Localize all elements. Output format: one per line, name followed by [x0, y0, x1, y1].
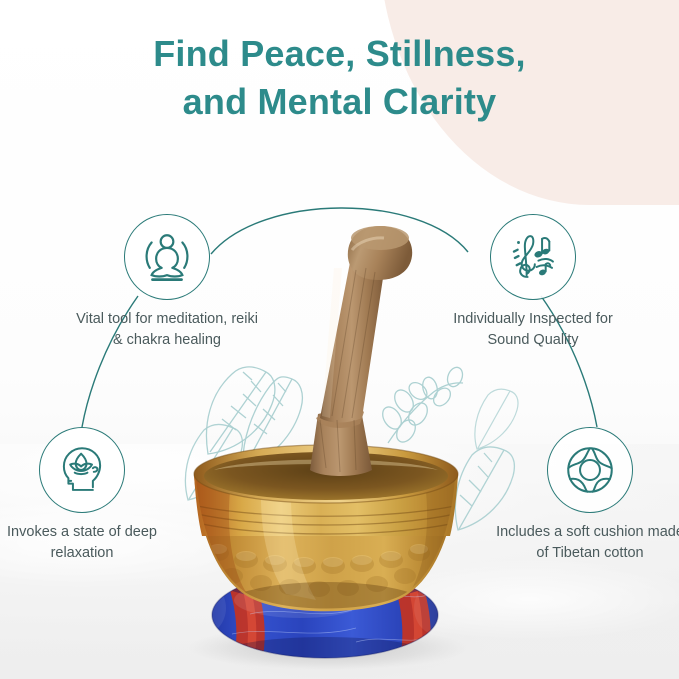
feature-cushion-label: Includes a soft cushion made of Tibetan … — [495, 522, 679, 563]
feature-meditation[interactable]: Vital tool for meditation, reiki & chakr… — [72, 214, 262, 350]
page-title-line-1: Find Peace, Stillness, — [0, 30, 679, 78]
feature-sound-quality[interactable]: Individually Inspected for Sound Quality — [438, 214, 628, 350]
feature-relaxation[interactable]: Invokes a state of deep relaxation — [0, 427, 177, 563]
head-with-lotus-icon — [39, 427, 125, 513]
page-title: Find Peace, Stillness, and Mental Clarit… — [0, 30, 679, 125]
page-title-line-2: and Mental Clarity — [0, 78, 679, 126]
feature-sound-quality-label: Individually Inspected for Sound Quality — [438, 309, 628, 350]
feature-relaxation-label: Invokes a state of deep relaxation — [0, 522, 177, 563]
music-notes-treble-clef-icon — [490, 214, 576, 300]
feature-cushion[interactable]: Includes a soft cushion made of Tibetan … — [495, 427, 679, 563]
ring-cushion-icon — [547, 427, 633, 513]
meditating-person-icon — [124, 214, 210, 300]
feature-meditation-label: Vital tool for meditation, reiki & chakr… — [72, 309, 262, 350]
product-feature-infographic: Find Peace, Stillness, and Mental Clarit… — [0, 0, 679, 679]
